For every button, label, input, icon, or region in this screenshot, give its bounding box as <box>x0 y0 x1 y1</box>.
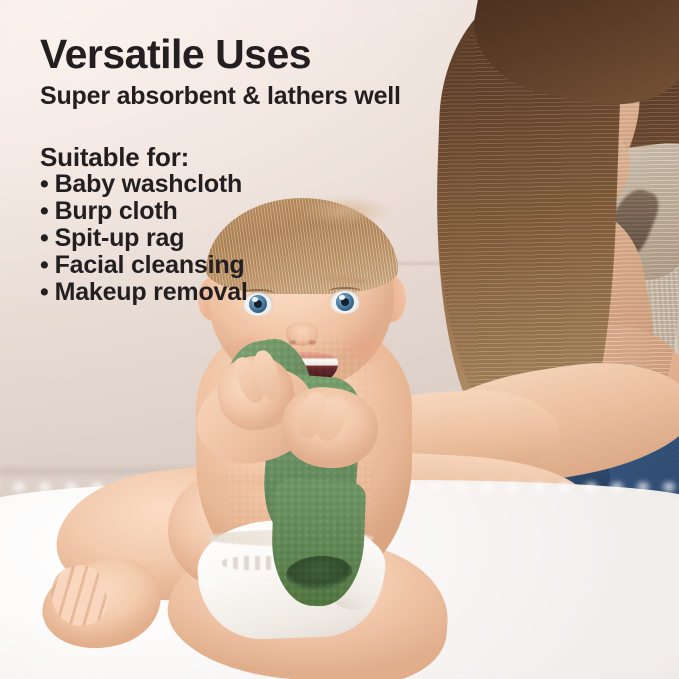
baby-right-lash-line <box>329 287 361 295</box>
list-item: •Spit-up rag <box>40 225 248 252</box>
bullet-dot-icon: • <box>40 224 49 252</box>
list-item-label: Makeup removal <box>55 278 248 306</box>
uses-bullet-list: •Baby washcloth•Burp cloth•Spit-up rag•F… <box>40 171 248 306</box>
baby-right-eye-glint <box>339 295 345 300</box>
uses-list-title: Suitable for: <box>40 142 189 173</box>
page-subtitle: Super absorbent & lathers well <box>40 83 470 111</box>
list-item-label: Facial cleansing <box>55 251 245 279</box>
list-item-label: Burp cloth <box>55 197 178 225</box>
list-item: •Facial cleansing <box>40 252 248 279</box>
list-item-label: Spit-up rag <box>55 224 185 252</box>
list-item: •Burp cloth <box>40 198 248 225</box>
baby-hair-wisp <box>300 196 392 226</box>
infographic-canvas: Versatile Uses Super absorbent & lathers… <box>0 0 679 679</box>
bullet-dot-icon: • <box>40 278 49 306</box>
page-title: Versatile Uses <box>40 34 470 75</box>
list-item-label: Baby washcloth <box>55 170 243 198</box>
baby-left-eye-glint <box>252 297 258 302</box>
headline-block: Versatile Uses Super absorbent & lathers… <box>40 34 470 111</box>
bullet-dot-icon: • <box>40 170 49 198</box>
list-item: •Makeup removal <box>40 279 248 306</box>
bullet-dot-icon: • <box>40 251 49 279</box>
list-item: •Baby washcloth <box>40 171 248 198</box>
bullet-dot-icon: • <box>40 197 49 225</box>
